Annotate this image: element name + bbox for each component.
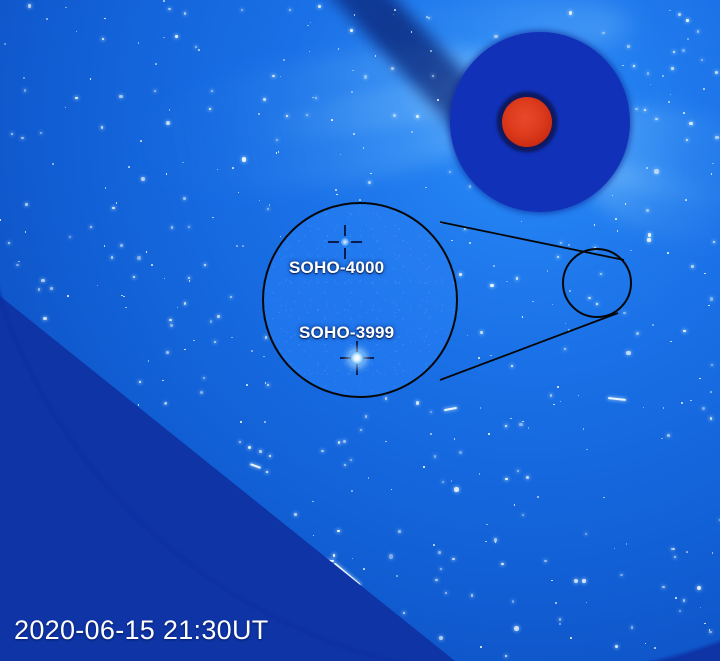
point-source-soho-3999 — [350, 351, 364, 365]
crosshair-marker-soho-3999 — [340, 341, 374, 375]
coronagraph-image: SOHO-4000 SOHO-3999 2020-06-15 21:30UT — [0, 0, 720, 661]
sun-disk-icon — [502, 97, 552, 147]
source-region-circle[interactable] — [562, 248, 632, 318]
object-label-soho-4000: SOHO-4000 — [289, 258, 384, 278]
point-source-soho-4000 — [341, 238, 349, 246]
crosshair-marker-soho-4000 — [328, 225, 362, 259]
object-label-soho-3999: SOHO-3999 — [299, 323, 394, 343]
timestamp-label: 2020-06-15 21:30UT — [14, 615, 269, 646]
